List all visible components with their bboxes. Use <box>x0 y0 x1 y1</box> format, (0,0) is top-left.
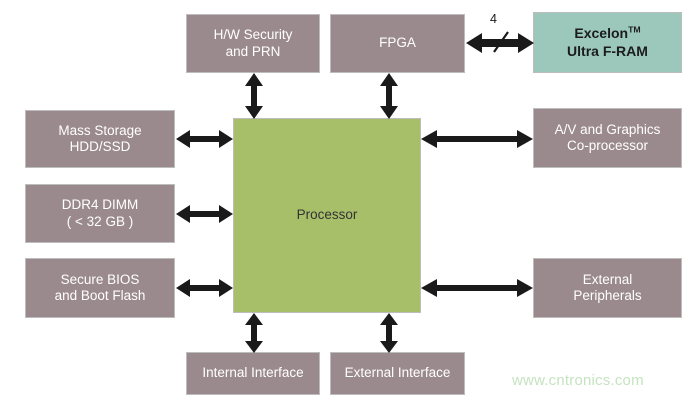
block-excelon-ultra-fram: ExcelonTMUltra F-RAM <box>533 12 682 73</box>
arrow-fpga-excelon-bus <box>466 30 534 56</box>
block-mass-storage-label: Mass Storage HDD/SSD <box>54 123 145 156</box>
arrow-secure-bios-processor <box>176 277 233 299</box>
arrow-processor-internal-interface <box>243 313 265 353</box>
block-hw-security-and-prn-label: H/W Security and PRN <box>210 27 297 60</box>
arrow-processor-av-graphics <box>421 128 533 150</box>
block-external-peripherals: External Peripherals <box>533 258 682 318</box>
block-internal-interface: Internal Interface <box>186 352 320 395</box>
bus-width-label-fpga-excelon: 4 <box>490 12 497 26</box>
arrow-ddr4-processor <box>176 203 233 225</box>
block-av-graphics-coprocessor-label: A/V and Graphics Co-processor <box>551 122 665 155</box>
arrow-hw-security-processor <box>243 73 265 119</box>
block-external-peripherals-label: External Peripherals <box>569 272 645 305</box>
excelon-name: Excelon <box>574 25 628 41</box>
block-excelon-ultra-fram-label: ExcelonTMUltra F-RAM <box>563 25 652 59</box>
arrow-processor-external-interface <box>378 313 400 353</box>
block-external-interface-label: External Interface <box>341 365 455 381</box>
block-ddr4-dimm-label: DDR4 DIMM ( < 32 GB ) <box>58 197 143 230</box>
block-hw-security-and-prn: H/W Security and PRN <box>186 14 320 73</box>
block-processor-label: Processor <box>293 207 362 223</box>
block-internal-interface-label: Internal Interface <box>198 365 307 381</box>
arrow-fpga-processor <box>378 73 400 119</box>
site-watermark: www.cntronics.com <box>512 372 644 389</box>
arrow-processor-external-peripherals <box>421 277 533 299</box>
block-ddr4-dimm: DDR4 DIMM ( < 32 GB ) <box>25 184 175 243</box>
block-secure-bios-label: Secure BIOS and Boot Flash <box>51 272 150 305</box>
block-fpga: FPGA <box>330 14 465 73</box>
excelon-subname: Ultra F-RAM <box>567 43 648 59</box>
arrow-mass-storage-processor <box>176 128 233 150</box>
block-fpga-label: FPGA <box>375 35 420 51</box>
block-diagram: H/W Security and PRN FPGA ExcelonTMUltra… <box>0 0 689 409</box>
block-processor: Processor <box>233 118 421 313</box>
trademark-symbol: TM <box>628 25 641 35</box>
block-external-interface: External Interface <box>330 352 465 395</box>
block-av-graphics-coprocessor: A/V and Graphics Co-processor <box>533 108 682 168</box>
block-mass-storage: Mass Storage HDD/SSD <box>25 110 175 168</box>
block-secure-bios: Secure BIOS and Boot Flash <box>25 258 175 318</box>
